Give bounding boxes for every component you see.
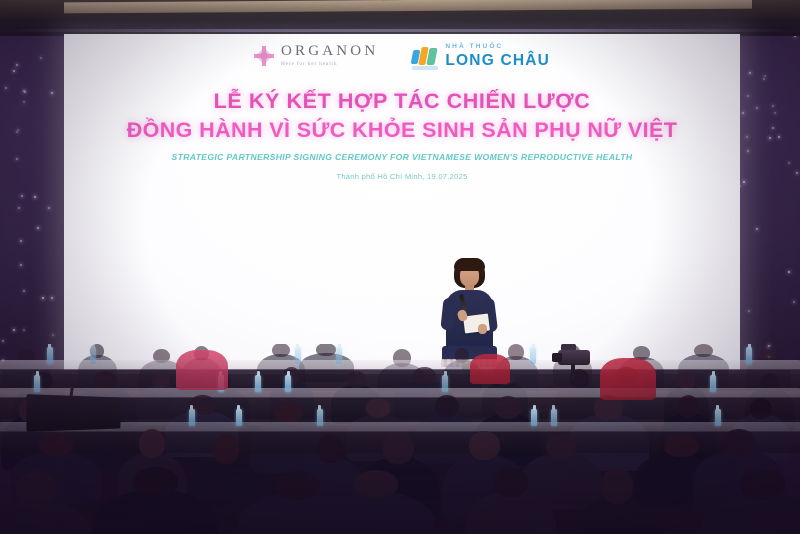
audience-member-head <box>383 432 414 464</box>
wall-star-light <box>748 310 750 312</box>
water-bottle <box>710 375 716 392</box>
organon-tagline: Here for her health <box>281 62 378 67</box>
audience-member-colored-jacket <box>600 358 656 400</box>
audience-member-colored-jacket <box>470 354 510 384</box>
stage-monitor <box>26 394 120 432</box>
wall-star-light <box>756 228 758 230</box>
audience-member-head <box>152 373 170 388</box>
wall-star-light <box>16 158 18 160</box>
wall-star-light <box>793 301 795 303</box>
wall-star-light <box>16 131 18 133</box>
wall-star-light <box>23 290 25 292</box>
organon-starburst-icon <box>254 46 274 66</box>
long-chau-small-text: NHÀ THUỐC <box>445 44 550 51</box>
audience-member-head <box>274 401 303 425</box>
long-chau-blocks-icon <box>412 47 438 66</box>
audience-member-colored-jacket <box>176 350 228 390</box>
wall-star-light <box>52 334 54 336</box>
audience-member-head <box>317 434 343 464</box>
wall-star-light <box>23 329 25 331</box>
wall-star-light <box>743 181 745 183</box>
wall-star-light <box>51 297 53 299</box>
wall-star-light <box>772 105 774 107</box>
logo-row: ORGANON Here for her health NHÀ THUỐC LO… <box>64 44 740 68</box>
wall-star-light <box>40 57 42 59</box>
wall-star-light <box>788 162 790 164</box>
wall-star-light <box>37 227 39 229</box>
wall-star-light <box>778 136 780 138</box>
wall-star-light <box>21 195 23 197</box>
long-chau-wordmark: LONG CHÂU <box>445 53 550 69</box>
water-bottle <box>90 347 96 364</box>
audience-member-head <box>508 344 525 360</box>
water-bottle <box>295 347 301 364</box>
water-bottle <box>551 409 557 426</box>
wall-star-light <box>51 92 53 94</box>
wall-star-light <box>763 78 765 80</box>
audience-member-head <box>16 471 57 507</box>
wall-star-light <box>2 340 4 342</box>
water-bottle <box>34 375 40 392</box>
wall-star-light <box>756 107 758 109</box>
speaker-fringe <box>454 258 485 271</box>
wall-star-light <box>23 101 25 103</box>
audience-member-head <box>275 471 320 500</box>
audience-member-head <box>694 344 713 357</box>
water-bottle <box>442 375 448 392</box>
slide-title-line-2: ĐỒNG HÀNH VÌ SỨC KHỎE SINH SẢN PHỤ NỮ VI… <box>64 118 740 143</box>
audience-member-head <box>316 344 336 356</box>
wall-star-light <box>796 172 798 174</box>
wall-star-light <box>20 264 22 266</box>
water-bottle <box>47 347 53 364</box>
slide-subtitle: STRATEGIC PARTNERSHIP SIGNING CEREMONY F… <box>64 152 740 162</box>
wall-star-light <box>742 112 744 114</box>
audience-member-head <box>133 467 179 496</box>
water-bottle <box>255 375 261 392</box>
audience-member-head <box>469 431 500 460</box>
audience-member-head <box>722 429 756 456</box>
organon-logo: ORGANON Here for her health <box>254 44 378 67</box>
audience-member-head <box>413 367 436 385</box>
wall-star-light <box>34 196 36 198</box>
speaker-right-hand <box>478 324 487 334</box>
wall-star-light <box>772 127 774 129</box>
audience-member-head <box>213 434 239 464</box>
audience-member-head <box>139 429 165 458</box>
audience-member-head <box>347 371 366 388</box>
audience-member-head <box>546 434 577 459</box>
video-camera-icon <box>552 344 598 378</box>
audience-member-head <box>354 470 398 498</box>
wall-star-light <box>764 75 766 77</box>
audience-member-head <box>366 398 390 418</box>
long-chau-logo: NHÀ THUỐC LONG CHÂU <box>412 44 550 68</box>
water-bottle <box>531 409 537 426</box>
water-bottle <box>317 409 323 426</box>
wall-star-light <box>747 150 749 152</box>
audience-member-head <box>601 467 633 505</box>
ceiling <box>0 0 800 36</box>
slide-title-block: LỄ KÝ KẾT HỢP TÁC CHIẾN LƯỢC ĐỒNG HÀNH V… <box>64 89 740 181</box>
wall-star-light <box>13 329 15 331</box>
slide-title-line-1: LỄ KÝ KẾT HỢP TÁC CHIẾN LƯỢC <box>64 89 740 114</box>
audience-member-head <box>494 468 527 497</box>
audience-member-head <box>495 396 521 418</box>
wall-star-light <box>5 87 7 89</box>
wall-star-light <box>769 137 771 139</box>
conference-photo: ORGANON Here for her health NHÀ THUỐC LO… <box>0 0 800 534</box>
water-bottle <box>715 409 721 426</box>
water-bottle <box>189 409 195 426</box>
audience-member-head <box>740 468 785 500</box>
wall-star-light <box>48 207 50 209</box>
wall-star-light <box>747 95 749 97</box>
wall-star-light <box>16 64 18 66</box>
wall-star-light <box>749 72 751 74</box>
audience-member-head <box>39 433 72 456</box>
wall-star-light <box>20 240 22 242</box>
water-bottle <box>336 347 342 364</box>
projection-screen: ORGANON Here for her health NHÀ THUỐC LO… <box>64 34 740 370</box>
wall-star-light <box>746 136 748 138</box>
audience-member-head <box>435 395 460 417</box>
water-bottle <box>530 347 536 364</box>
organon-wordmark: ORGANON <box>281 44 378 59</box>
audience-member-head <box>750 398 772 419</box>
wall-star-light <box>774 112 776 114</box>
audience-member-head <box>678 395 699 418</box>
audience <box>0 344 800 534</box>
audience-member-head <box>272 344 290 357</box>
slide-place-date: Thành phố Hồ Chí Minh, 19.07.2025 <box>64 172 740 181</box>
water-bottle <box>746 347 752 364</box>
wall-star-light <box>24 91 26 93</box>
wall-star-light <box>18 207 20 209</box>
wall-star-light <box>788 271 790 273</box>
water-bottle <box>285 375 291 392</box>
audience-member-head <box>664 434 698 457</box>
wall-star-light <box>13 70 15 72</box>
water-bottle <box>236 409 242 426</box>
wall-star-light <box>42 297 44 299</box>
